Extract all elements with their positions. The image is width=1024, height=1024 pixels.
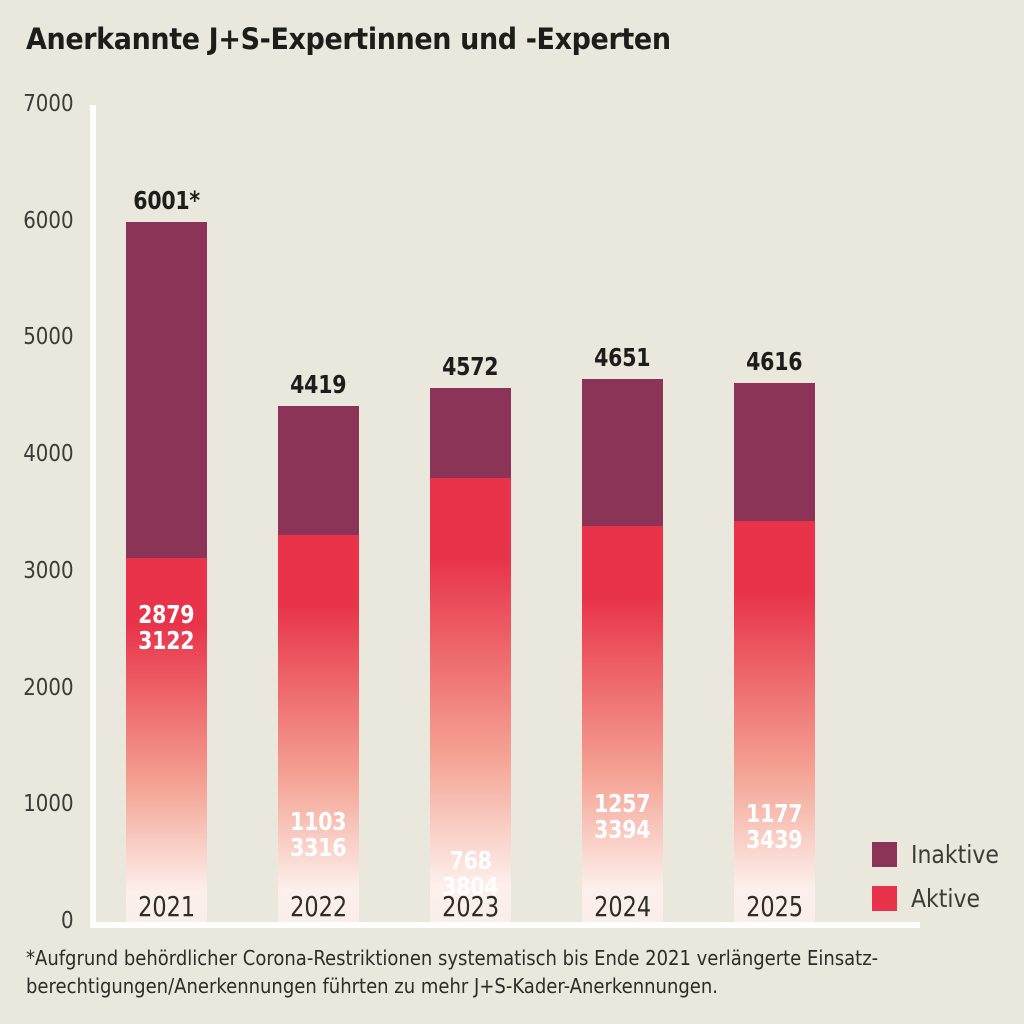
- bar-segment-inaktive-2024[interactable]: [582, 379, 663, 526]
- legend: Inaktive Aktive: [872, 832, 1011, 920]
- plot-area: 287931226001*202111033316441920227683804…: [90, 105, 920, 922]
- bar-value-aktive-2024: 3394: [582, 815, 663, 844]
- y-tick-3000: 3000: [0, 560, 74, 583]
- y-tick-2000: 2000: [0, 677, 74, 700]
- legend-label-aktive: Aktive: [911, 884, 990, 913]
- footnote-line-1: *Aufgrund behördlicher Corona-Restriktio…: [26, 944, 908, 972]
- x-tick-2021: 2021: [112, 890, 221, 923]
- bar-total-2025: 4616: [734, 347, 815, 376]
- y-tick-1000: 1000: [0, 793, 74, 816]
- x-tick-2024: 2024: [568, 890, 677, 923]
- bar-value-inaktive-2024: 1257: [582, 789, 663, 818]
- bar-segment-inaktive-2025[interactable]: [734, 383, 815, 520]
- x-tick-2025: 2025: [720, 890, 829, 923]
- bar-value-inaktive-2022: 1103: [278, 807, 359, 836]
- bar-total-2021: 6001*: [126, 186, 207, 215]
- y-tick-5000: 5000: [0, 326, 74, 349]
- y-tick-7000: 7000: [0, 93, 74, 116]
- bar-value-inaktive-2023: 768: [430, 846, 511, 875]
- legend-swatch-inaktive: [872, 842, 897, 867]
- legend-label-inaktive: Inaktive: [911, 840, 1011, 869]
- bar-segment-aktive-2024[interactable]: [582, 526, 663, 922]
- bar-segment-inaktive-2023[interactable]: [430, 388, 511, 478]
- y-tick-4000: 4000: [0, 443, 74, 466]
- bar-value-aktive-2022: 3316: [278, 833, 359, 862]
- bar-segment-inaktive-2021[interactable]: [126, 222, 207, 558]
- bar-value-inaktive-2021: 2879: [126, 600, 207, 629]
- x-tick-2022: 2022: [264, 890, 373, 923]
- bar-total-2023: 4572: [430, 352, 511, 381]
- bar-segment-inaktive-2022[interactable]: [278, 406, 359, 535]
- bar-group-2025[interactable]: 1177343946162025: [734, 383, 815, 922]
- x-tick-2023: 2023: [416, 890, 525, 923]
- footnote-line-2: berechtigungen/Anerkennungen führten zu …: [26, 972, 908, 1000]
- y-tick-6000: 6000: [0, 210, 74, 233]
- bar-total-2022: 4419: [278, 370, 359, 399]
- legend-swatch-aktive: [872, 886, 897, 911]
- legend-item-aktive[interactable]: Aktive: [872, 876, 1011, 920]
- bar-group-2024[interactable]: 1257339446512024: [582, 379, 663, 922]
- bar-group-2023[interactable]: 768380445722023: [430, 388, 511, 922]
- bar-value-aktive-2021: 3122: [126, 626, 207, 655]
- bar-total-2024: 4651: [582, 343, 663, 372]
- bar-value-inaktive-2025: 1177: [734, 799, 815, 828]
- legend-item-inaktive[interactable]: Inaktive: [872, 832, 1011, 876]
- y-tick-0: 0: [0, 910, 74, 933]
- bar-group-2021[interactable]: 287931226001*2021: [126, 222, 207, 922]
- chart-page: Anerkannte J+S-Expertinnen und -Experten…: [0, 0, 1024, 1024]
- bar-segment-aktive-2025[interactable]: [734, 521, 815, 922]
- footnote: *Aufgrund behördlicher Corona-Restriktio…: [26, 944, 1006, 1001]
- bar-value-aktive-2025: 3439: [734, 825, 815, 854]
- bar-group-2022[interactable]: 1103331644192022: [278, 406, 359, 922]
- bar-segment-aktive-2022[interactable]: [278, 535, 359, 922]
- page-title: Anerkannte J+S-Expertinnen und -Experten: [26, 22, 671, 56]
